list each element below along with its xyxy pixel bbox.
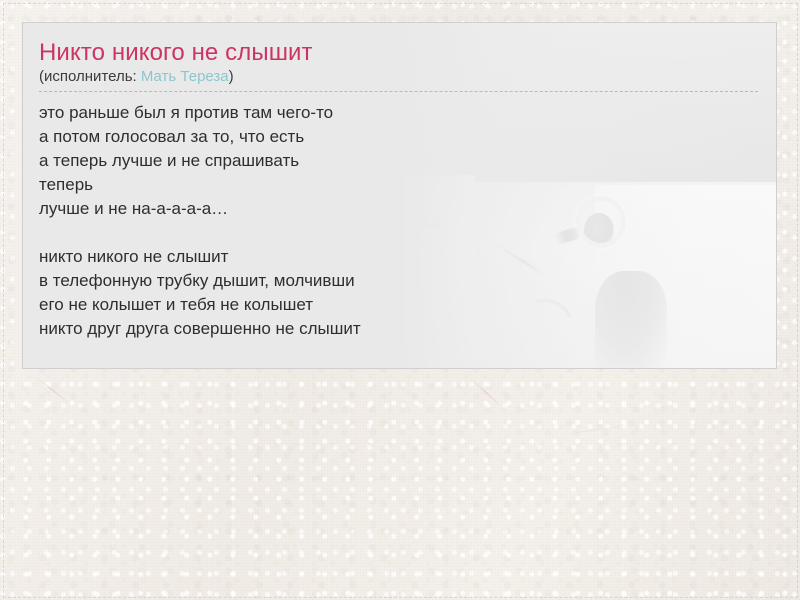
page-title: Никто никого не слышит [39, 40, 313, 66]
lyric-line: теперь [39, 173, 639, 197]
lyrics-card: Никто никого не слышит (исполнитель: Мат… [22, 22, 777, 369]
artist-subtitle: (исполнитель: Мать Тереза) [39, 68, 234, 86]
lyric-line: лучше и не на-а-а-а-а… [39, 197, 639, 221]
lyrics-stanza: это раньше был я против там чего-то а по… [39, 101, 639, 221]
lyric-line: а теперь лучше и не спрашивать [39, 149, 639, 173]
lyrics-body: это раньше был я против там чего-то а по… [39, 101, 639, 341]
lyric-line: это раньше был я против там чего-то [39, 101, 639, 125]
artist-label-prefix: (исполнитель: [39, 68, 141, 85]
artist-label-suffix: ) [229, 68, 234, 85]
lyric-line: никто никого не слышит [39, 245, 639, 269]
lyric-line: никто друг друга совершенно не слышит [39, 317, 639, 341]
lyric-line: в телефонную трубку дышит, молчивши [39, 269, 639, 293]
lyrics-stanza: никто никого не слышит в телефонную труб… [39, 245, 639, 341]
lyric-line: а потом голосовал за то, что есть [39, 125, 639, 149]
artist-link[interactable]: Мать Тереза [141, 68, 229, 85]
lyric-line: его не колышет и тебя не колышет [39, 293, 639, 317]
header-separator [39, 91, 758, 92]
